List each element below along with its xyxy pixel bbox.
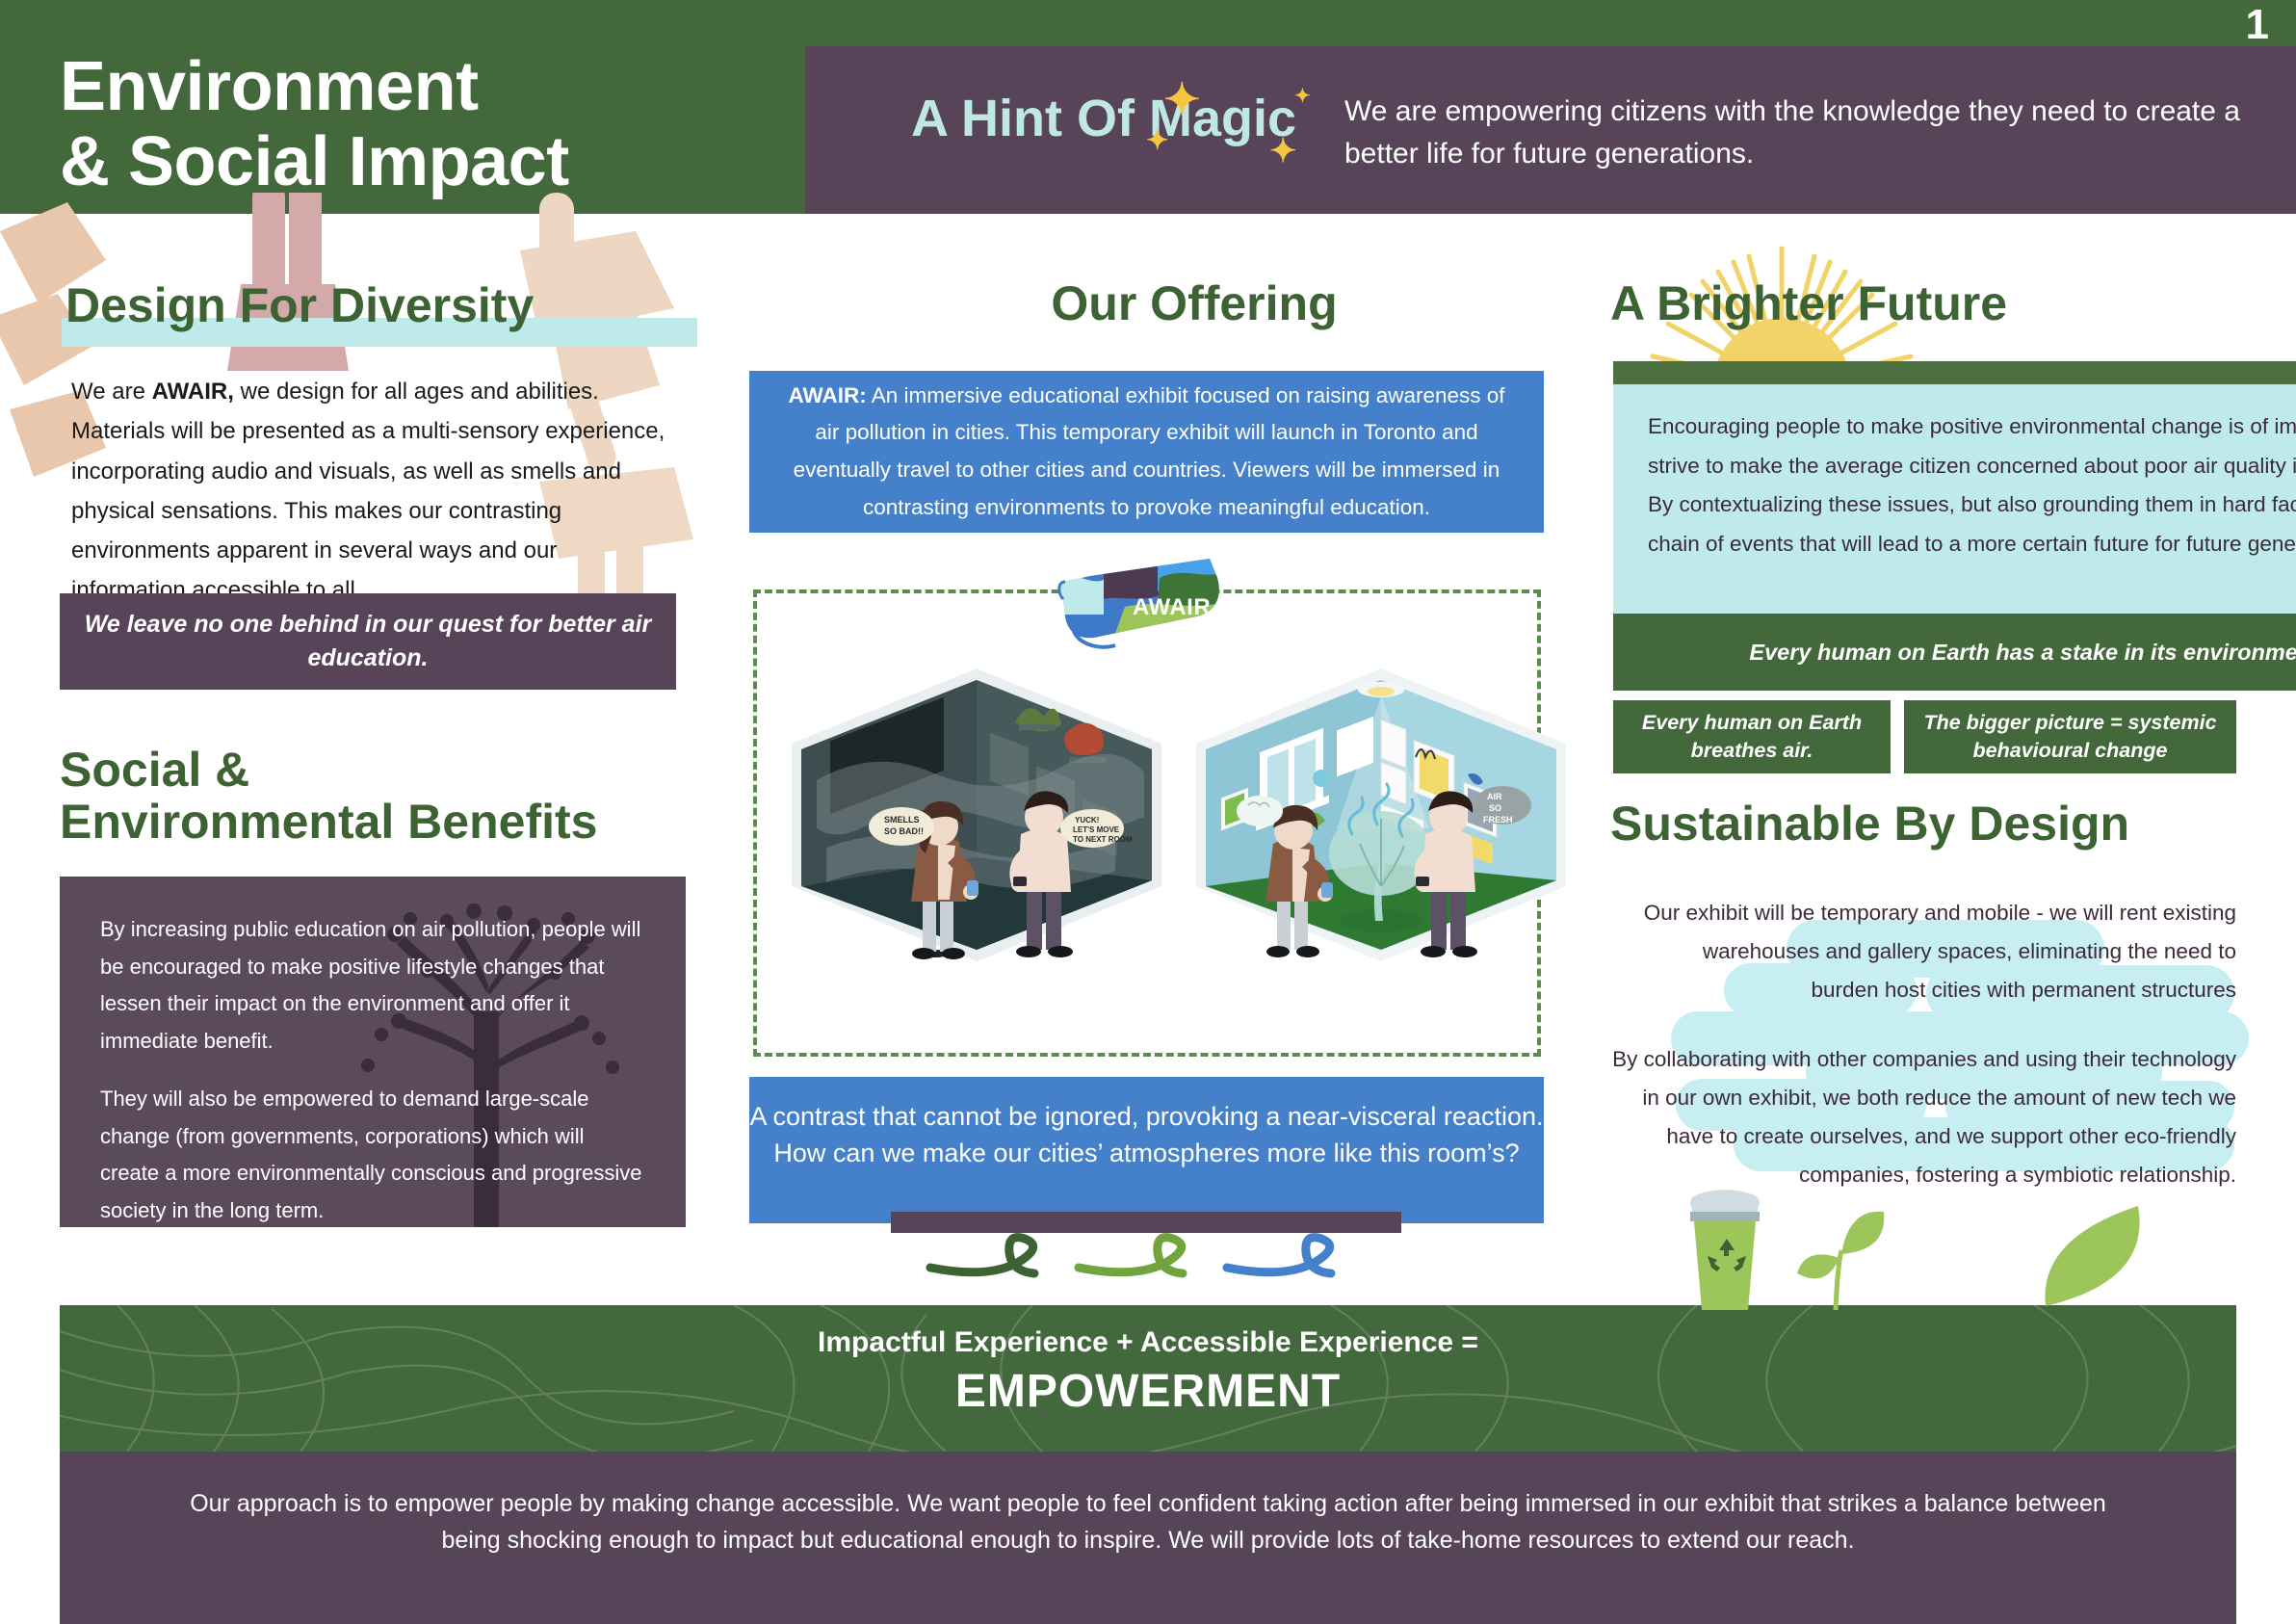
paragraph-rest: we design for all ages and abilities. Ma… — [71, 379, 665, 603]
offering-body: An immersive educational exhibit focused… — [794, 383, 1505, 519]
quote-box-no-one-behind: We leave no one behind in our quest for … — [60, 593, 676, 690]
svg-text:YUCK!: YUCK! — [1075, 816, 1099, 825]
section-heading-our-offering: Our Offering — [953, 277, 1435, 329]
brighter-future-text: Encouraging people to make positive envi… — [1613, 384, 2296, 587]
brighter-future-box: Encouraging people to make positive envi… — [1613, 384, 2296, 614]
page-number: 1 — [2246, 4, 2269, 46]
poster-canvas: 1 Environment & Social Impact A Hint Of … — [0, 0, 2296, 1624]
quote-box-stake: Every human on Earth has a stake in its … — [1613, 614, 2296, 691]
our-offering-box: AWAIR: An immersive educational exhibit … — [749, 371, 1544, 533]
our-offering-text: AWAIR: An immersive educational exhibit … — [749, 378, 1544, 527]
quote-text: We leave no one behind in our quest for … — [60, 608, 676, 675]
benefits-heading-line2: Environmental Benefits — [60, 796, 734, 848]
svg-text:SMELLS: SMELLS — [884, 815, 920, 825]
sustainable-paragraph-2: By collaborating with other companies an… — [1606, 1040, 2236, 1194]
footer-result: EMPOWERMENT — [60, 1365, 2236, 1418]
contrast-quote-box: A contrast that cannot be ignored, provo… — [749, 1077, 1544, 1223]
benefits-heading-line1: Social & — [60, 744, 734, 796]
hint-of-magic-text: A Hint Of Magic — [911, 90, 1296, 147]
contrast-quote-text: A contrast that cannot be ignored, provo… — [749, 1077, 1544, 1172]
leaf-icon — [2040, 1202, 2146, 1308]
sprout-icon — [1780, 1202, 1895, 1310]
page-title-line2: & Social Impact — [60, 125, 569, 200]
wind-swirls-decoration — [925, 1233, 1377, 1291]
footer-purple-band: Our approach is to empower people by mak… — [60, 1452, 2236, 1624]
benefits-text-box: By increasing public education on air po… — [60, 877, 686, 1227]
hint-of-magic-block: A Hint Of Magic ✦ ✦ ✦ ✦ — [853, 92, 1354, 144]
section-heading-social-environmental-benefits: Social & Environmental Benefits — [60, 744, 734, 848]
sparkle-icon: ✦ — [1146, 127, 1168, 154]
sparkle-icon: ✦ — [1269, 135, 1297, 168]
section-heading-a-brighter-future: A Brighter Future — [1610, 277, 2296, 329]
section-heading-design-for-diversity: Design For Diversity — [65, 279, 740, 331]
paragraph-lead: We are — [71, 379, 152, 405]
header-tagline: We are empowering citizens with the know… — [1344, 91, 2259, 174]
recycling-cup-icon — [1661, 1187, 1787, 1310]
page-title: Environment & Social Impact — [60, 50, 569, 200]
awair-mask-logo: AWAIR — [1052, 557, 1254, 651]
benefits-paragraph-2: They will also be empowered to demand la… — [100, 1081, 645, 1227]
quote-box-bigger-picture: The bigger picture = systemic behavioura… — [1904, 700, 2236, 773]
clean-room-illustration: AIR SO FRESH — [1192, 665, 1570, 965]
awair-logo-text: AWAIR — [1133, 594, 1211, 620]
svg-text:TO NEXT ROOM: TO NEXT ROOM — [1073, 835, 1133, 844]
section-heading-sustainable-by-design: Sustainable By Design — [1610, 798, 2296, 850]
svg-text:SO BAD!!: SO BAD!! — [884, 826, 924, 836]
quote-text: Every human on Earth has a stake in its … — [1749, 637, 2296, 668]
quote-text: The bigger picture = systemic behavioura… — [1904, 709, 2236, 765]
benefits-paragraph-1: By increasing public education on air po… — [100, 911, 645, 1060]
brand-name: AWAIR, — [152, 379, 234, 405]
design-for-diversity-paragraph: We are AWAIR, we design for all ages and… — [71, 372, 668, 611]
sparkle-icon: ✦ — [1163, 77, 1201, 121]
hint-of-magic-title: A Hint Of Magic ✦ ✦ ✦ ✦ — [911, 92, 1296, 144]
footer-statement: Our approach is to empower people by mak… — [60, 1452, 2236, 1559]
footer-green-band: Impactful Experience + Accessible Experi… — [60, 1305, 2236, 1452]
sustainable-paragraph-1: Our exhibit will be temporary and mobile… — [1637, 894, 2236, 1009]
offering-label: AWAIR: — [788, 383, 866, 407]
brighter-future-top-bar — [1613, 361, 2296, 384]
contrast-underbar — [891, 1212, 1401, 1233]
quote-text: Every human on Earth breathes air. — [1613, 709, 1891, 765]
header-purple-panel: A Hint Of Magic ✦ ✦ ✦ ✦ We are empowerin… — [805, 46, 2296, 214]
svg-text:LET'S MOVE: LET'S MOVE — [1073, 825, 1120, 834]
sparkle-icon: ✦ — [1294, 87, 1311, 106]
polluted-room-illustration: SMELLS SO BAD!! YUCK! LET'S MOVE TO NEXT… — [788, 665, 1165, 965]
benefits-paragraphs: By increasing public education on air po… — [60, 877, 686, 1227]
page-title-line1: Environment — [60, 50, 569, 125]
svg-text:AIR: AIR — [1487, 792, 1502, 801]
quote-box-breathes-air: Every human on Earth breathes air. — [1613, 700, 1891, 773]
svg-text:SO: SO — [1489, 803, 1501, 813]
svg-text:FRESH: FRESH — [1483, 815, 1513, 825]
footer-equation: Impactful Experience + Accessible Experi… — [60, 1326, 2236, 1359]
